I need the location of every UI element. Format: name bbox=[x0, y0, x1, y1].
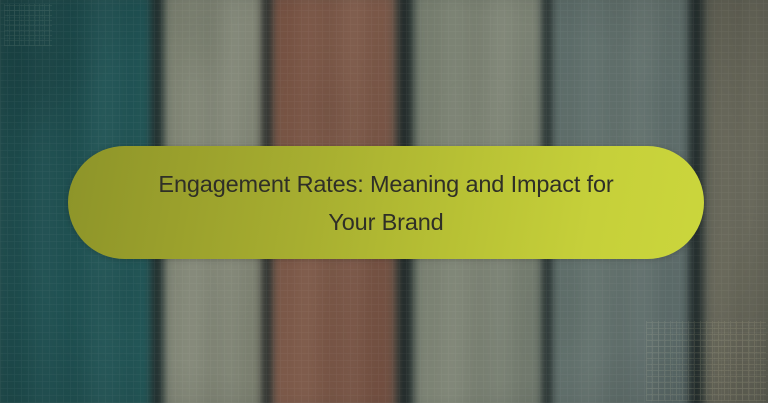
watermark-bottom-right bbox=[646, 321, 766, 401]
hero-banner: Engagement Rates: Meaning and Impact for… bbox=[0, 0, 768, 403]
title-pill-banner: Engagement Rates: Meaning and Impact for… bbox=[68, 146, 704, 259]
watermark-top-left bbox=[4, 4, 52, 46]
banner-title: Engagement Rates: Meaning and Impact for… bbox=[136, 165, 636, 241]
